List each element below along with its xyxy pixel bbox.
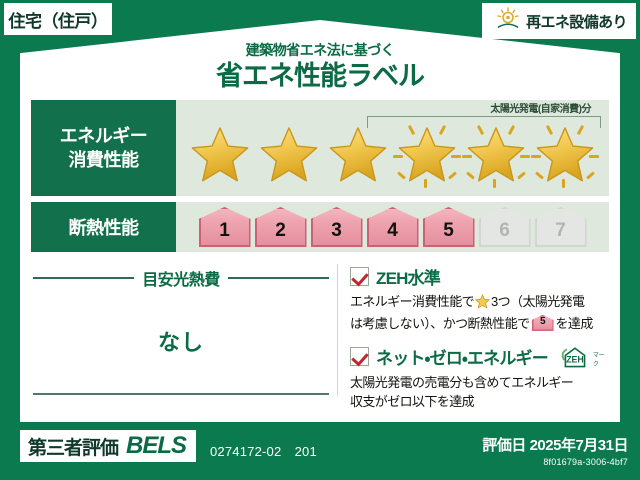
energy-star-rating	[176, 118, 609, 192]
criteria-net-zero-description: 太陽光発電の売電分も含めてエネルギー 収支がゼロ以下を達成	[350, 374, 609, 412]
house-icon-inline: 5	[532, 315, 554, 331]
rule-right	[228, 277, 329, 279]
insulation-level-1: 1	[199, 207, 251, 247]
zeh-mark-sublabel: マーク	[593, 350, 609, 370]
svg-text:ZEH: ZEH	[566, 354, 584, 364]
star-icon	[255, 121, 323, 189]
criteria-zeh-title: ZEH水準	[376, 264, 440, 289]
criteria-zeh-desc-starcount: 3つ（太陽光発電	[491, 294, 584, 309]
criteria-zeh-head: ZEH水準	[350, 264, 609, 289]
star-icon-inline	[475, 294, 490, 315]
criteria-net-zero-desc-line1: 太陽光発電の売電分も含めてエネルギー	[350, 375, 573, 390]
third-party-evaluation-label: 第三者評価	[28, 433, 118, 460]
energy-label-root: 住宅（住戸） 再エネ設備あり 建築物省エネ法に基づく 省エネ性能ラベル	[0, 0, 640, 480]
vertical-divider	[337, 264, 338, 396]
energy-performance-label: エネルギー 消費性能	[31, 100, 176, 196]
evaluation-date-value: 2025年7月31日	[530, 437, 628, 454]
star-icon-solar	[462, 121, 530, 189]
criteria-zeh-desc-part2: は考慮しない）、かつ断熱性能で	[350, 316, 530, 331]
insulation-level-6: 6	[479, 207, 531, 247]
header-subtitle: 建築物省エネ法に基づく	[20, 42, 620, 59]
evaluation-date-label: 評価日	[482, 437, 526, 454]
rule-left	[33, 277, 134, 279]
header-title-block: 建築物省エネ法に基づく 省エネ性能ラベル	[20, 42, 620, 94]
criteria-net-zero-desc-line2: 収支がゼロ以下を達成	[350, 394, 474, 409]
utility-cost-value: なし	[31, 325, 331, 357]
evaluation-date: 評価日 2025年7月31日	[482, 434, 628, 455]
criteria-zeh-description: エネルギー消費性能で3つ（太陽光発電は考慮しない）、かつ断熱性能で5を達成	[350, 293, 609, 334]
housing-type-badge: 住宅（住戸）	[4, 3, 112, 35]
criteria-net-zero-energy: ネット・ゼロ・エネルギー ZEH マーク 太陽光発電の売電分も含めてエネルギー	[350, 344, 609, 412]
page-title: 省エネ性能ラベル	[20, 60, 620, 94]
check-icon	[350, 267, 369, 286]
energy-label-line1: エネルギー	[60, 124, 148, 148]
footer-right-block: 評価日 2025年7月31日 8f01679a-3006-4bf7	[482, 434, 628, 467]
criteria-zeh-desc-part1: エネルギー消費性能で	[350, 294, 474, 309]
insulation-level-5: 5	[423, 207, 475, 247]
utility-cost-heading-row: 目安光熱費	[31, 266, 331, 290]
certificate-number: 0274172-02 201	[210, 441, 317, 460]
sun-icon	[495, 6, 521, 37]
energy-label-line2: 消費性能	[69, 148, 139, 172]
zeh-mark-icon: ZEH マーク	[559, 344, 609, 370]
insulation-performance-content: 1 2 3 4 5	[176, 202, 609, 252]
utility-cost-bottom-rule	[33, 393, 329, 395]
renewable-equipment-badge: 再エネ設備あり	[482, 3, 636, 39]
utility-cost-panel: 目安光熱費 なし	[31, 260, 331, 412]
insulation-level-2: 2	[255, 207, 307, 247]
insulation-performance-label: 断熱性能	[31, 202, 176, 252]
insulation-performance-row: 断熱性能 1 2 3	[31, 202, 609, 252]
bels-logo: BELS	[126, 432, 186, 460]
star-icon-solar	[531, 121, 599, 189]
criteria-net-zero-head: ネット・ゼロ・エネルギー ZEH マーク	[350, 344, 609, 370]
footer-bar: 第三者評価 BELS 0274172-02 201 評価日 2025年7月31日…	[0, 428, 640, 480]
check-icon	[350, 347, 369, 366]
insulation-level-7: 7	[535, 207, 587, 247]
insulation-level-scale: 1 2 3 4 5	[176, 202, 609, 252]
solar-portion-label: 太陽光発電(自家消費)分	[486, 100, 595, 115]
renewable-badge-label: 再エネ設備あり	[526, 11, 627, 32]
criteria-zeh-desc-part3: を達成	[556, 316, 593, 331]
star-icon	[324, 121, 392, 189]
criteria-zeh-standard: ZEH水準 エネルギー消費性能で3つ（太陽光発電は考慮しない）、かつ断熱性能で5…	[350, 264, 609, 334]
energy-performance-row: エネルギー 消費性能 太陽光発電(自家消費)分	[31, 100, 609, 196]
star-icon	[186, 121, 254, 189]
utility-cost-heading: 目安光熱費	[142, 266, 220, 290]
criteria-panel: ZEH水準 エネルギー消費性能で3つ（太陽光発電は考慮しない）、かつ断熱性能で5…	[350, 260, 609, 412]
star-icon-solar	[393, 121, 461, 189]
document-hash: 8f01679a-3006-4bf7	[482, 457, 628, 467]
third-party-evaluation-badge: 第三者評価 BELS	[20, 430, 196, 462]
criteria-net-zero-title: ネット・ゼロ・エネルギー	[376, 344, 548, 369]
insulation-level-4: 4	[367, 207, 419, 247]
lower-section: 目安光熱費 なし ZEH水準 エネルギー消費性能で3つ（太陽光発電は考慮しない）…	[31, 260, 609, 412]
label-card: エネルギー 消費性能 太陽光発電(自家消費)分	[20, 92, 620, 422]
insulation-level-3: 3	[311, 207, 363, 247]
energy-performance-content: 太陽光発電(自家消費)分	[176, 100, 609, 196]
